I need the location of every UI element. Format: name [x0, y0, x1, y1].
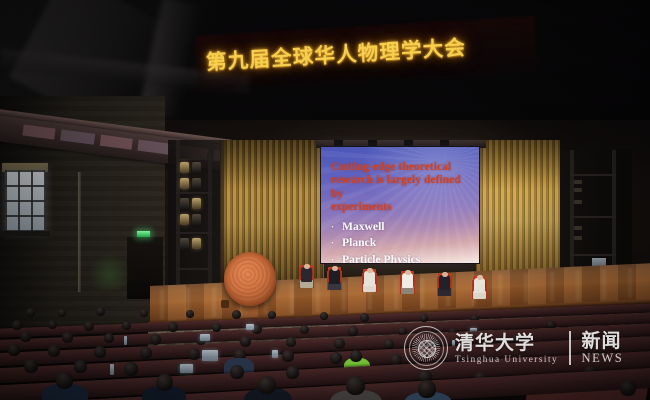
audience-head — [334, 338, 345, 349]
slide-heading: Cutting-edge theoretical research is lar… — [331, 161, 472, 215]
panelist-torso — [301, 267, 312, 282]
audience-head — [418, 380, 436, 398]
audience-head — [122, 321, 131, 330]
audience-head — [384, 339, 394, 349]
wall-conduit-pipe — [78, 172, 81, 292]
slide-bullet-list: · Maxwell · Planck · Particle Physics — [331, 219, 472, 263]
laptop-screen-glow — [200, 334, 210, 341]
truss-crossbar — [570, 254, 616, 256]
exit-sign — [137, 231, 150, 237]
slide-bullet-label: Planck — [342, 235, 376, 251]
panelist-head — [332, 266, 338, 272]
water-bottle — [124, 336, 127, 345]
watermark-org-en: Tsinghua University — [455, 354, 558, 364]
watermark-section-cn: 新闻 — [582, 331, 624, 351]
railing-panel — [22, 124, 55, 139]
audience-head — [420, 314, 428, 322]
audience-head — [124, 362, 138, 376]
truss-crossbar — [570, 216, 616, 218]
stage-light — [192, 178, 201, 189]
audience-head — [286, 337, 296, 347]
hall-window — [5, 170, 45, 232]
stage-light — [180, 214, 189, 225]
ceremonial-gong — [224, 252, 276, 306]
audience-head — [348, 326, 358, 336]
stage-light — [574, 226, 582, 230]
slide-bullet-label: Maxwell — [342, 219, 385, 235]
seal-core — [418, 340, 436, 358]
stage-light — [192, 162, 201, 173]
audience-head — [232, 310, 241, 319]
watermark-org-block: 清华大学 Tsinghua University — [455, 333, 558, 364]
audience-head — [620, 380, 636, 396]
railing-panel — [137, 140, 170, 155]
audience-head — [346, 376, 365, 395]
stage-light — [574, 236, 582, 240]
panelist-torso — [474, 278, 485, 293]
presentation-slide: Cutting-edge theoretical research is lar… — [331, 161, 472, 263]
bullet-marker-icon: · — [331, 236, 334, 252]
audience-head — [48, 320, 57, 329]
audience-head — [96, 307, 105, 316]
panelist-head — [405, 270, 411, 276]
audience-head — [56, 372, 73, 389]
audience-head — [360, 313, 369, 322]
audience-head — [282, 350, 294, 362]
stage-light — [192, 198, 201, 209]
audience-head — [8, 344, 20, 356]
audience-head — [320, 312, 328, 320]
audience-head — [12, 320, 22, 330]
bullet-marker-icon: · — [331, 220, 334, 236]
panelist-torso — [402, 273, 413, 288]
slide-heading-line: experiments — [331, 201, 472, 214]
truss-crossbar — [176, 192, 212, 194]
news-watermark: 清华大学 Tsinghua University 新闻 NEWS — [404, 322, 640, 374]
audience-head — [330, 352, 342, 364]
stage-lighting-truss-left — [168, 140, 224, 290]
stage-light — [574, 180, 582, 184]
stage-light — [574, 188, 582, 192]
stage-light — [180, 162, 189, 173]
audience-head — [156, 374, 173, 391]
audience-head — [258, 376, 276, 394]
audience-head — [104, 333, 114, 343]
projection-screen-frame: Cutting-edge theoretical research is lar… — [320, 146, 480, 264]
audience-head — [48, 345, 60, 357]
audience-head — [350, 350, 362, 362]
stage-light — [180, 238, 189, 249]
bullet-marker-icon: · — [331, 253, 334, 263]
audience-head — [94, 346, 106, 358]
railing-panel — [60, 129, 95, 144]
railing-panel — [100, 135, 133, 150]
laptop-screen-glow — [202, 350, 218, 361]
panelist-torso — [439, 275, 450, 290]
stage-light — [192, 214, 201, 225]
audience-head — [240, 336, 251, 347]
truss-crossbar — [570, 174, 616, 176]
audience-head — [20, 331, 31, 342]
watermark-divider — [569, 331, 570, 365]
audience-head — [62, 332, 73, 343]
slide-bullet-item: · Planck — [331, 235, 472, 252]
truss-crossbar — [176, 232, 212, 234]
truss-crossbar — [176, 158, 212, 160]
panelist-head — [367, 268, 373, 274]
window-sill — [0, 231, 50, 236]
stage-light — [574, 200, 582, 204]
audience-head — [168, 322, 178, 332]
watermark-section-block: 新闻 NEWS — [582, 331, 624, 366]
audience-head — [26, 308, 35, 317]
panelist-torso — [364, 271, 375, 286]
audience-head — [230, 365, 244, 379]
stage-light — [180, 198, 189, 209]
panelist-head — [477, 275, 483, 281]
panelist-torso — [329, 269, 340, 284]
projection-screen: Cutting-edge theoretical research is lar… — [321, 147, 479, 263]
audience-head — [58, 309, 66, 317]
slide-bullet-item: · Particle Physics — [331, 252, 472, 263]
tsinghua-seal-icon — [404, 326, 448, 370]
stage-light — [180, 178, 189, 189]
slide-bullet-label: Particle Physics — [342, 252, 420, 263]
truss-crossbar — [176, 268, 212, 270]
audience-head — [84, 321, 94, 331]
audience-head — [150, 334, 161, 345]
audience-head — [186, 310, 194, 318]
watermark-section-en: NEWS — [582, 351, 624, 366]
potted-plant — [88, 252, 130, 290]
water-bottle — [110, 364, 114, 375]
audience-head — [286, 366, 299, 379]
slide-heading-line: Cutting-edge theoretical — [331, 161, 472, 174]
audience-head — [212, 323, 221, 332]
slide-bullet-item: · Maxwell — [331, 219, 472, 236]
phone-screen-glow — [246, 324, 254, 330]
audience-head — [140, 347, 152, 359]
phone-screen-glow — [180, 364, 193, 373]
audience-head — [24, 359, 38, 373]
phone-screen-glow — [272, 350, 278, 358]
audience-head — [140, 309, 148, 317]
conference-hall-photo: Cutting-edge theoretical research is lar… — [0, 0, 650, 400]
watermark-org-cn: 清华大学 — [455, 333, 558, 353]
audience-head — [268, 311, 276, 319]
stage-light — [192, 238, 201, 249]
audience-head — [74, 360, 87, 373]
panelist-head — [304, 264, 310, 270]
audience-head — [300, 325, 309, 334]
panelist-head — [442, 272, 448, 278]
audience-head — [188, 348, 200, 360]
slide-heading-line: research is largely defined by — [331, 174, 472, 201]
